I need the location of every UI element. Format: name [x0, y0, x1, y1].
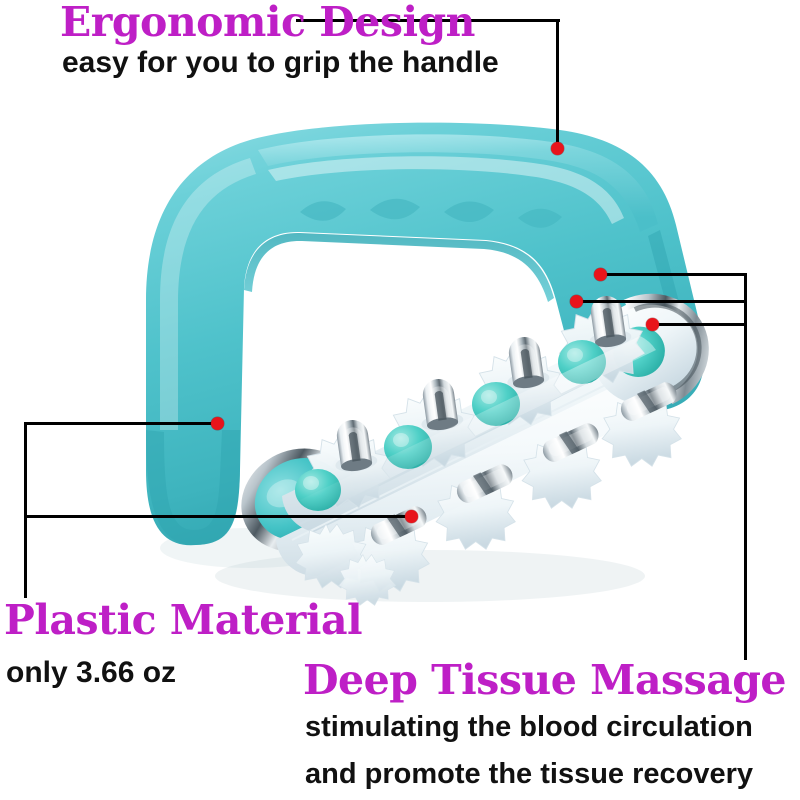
- callout-dot-deep-endcap: [646, 318, 659, 331]
- leader-line-ergonomic-v: [556, 19, 559, 149]
- callout-dot-deep-collar: [594, 268, 607, 281]
- callout-dot-plastic-handle: [211, 417, 224, 430]
- leader-line-deep-h1: [600, 273, 747, 276]
- callout-subtitle-deep-tissue-line2: and promote the tissue recovery: [305, 760, 753, 789]
- callout-dot-plastic-nub: [405, 510, 418, 523]
- infographic-canvas: Ergonomic Design easy for you to grip th…: [0, 0, 800, 800]
- callout-heading-plastic-material: Plastic Material: [4, 600, 362, 641]
- leader-line-deep-h2: [576, 300, 747, 303]
- leader-line-plastic-h2: [24, 515, 414, 518]
- callout-dot-ergonomic: [551, 142, 564, 155]
- leader-line-deep-h3: [652, 323, 747, 326]
- callout-heading-ergonomic-design: Ergonomic Design: [60, 2, 475, 43]
- callout-dot-deep-nub: [570, 295, 583, 308]
- leader-line-plastic-v: [24, 422, 27, 598]
- callout-heading-deep-tissue-massage: Deep Tissue Massage: [303, 660, 786, 701]
- callout-subtitle-plastic-material: only 3.66 oz: [6, 658, 176, 688]
- callout-subtitle-ergonomic-design: easy for you to grip the handle: [62, 48, 499, 78]
- leader-line-deep-v: [744, 273, 747, 660]
- leader-line-plastic-h1: [24, 422, 216, 425]
- callout-subtitle-deep-tissue-line1: stimulating the blood circulation: [305, 713, 753, 742]
